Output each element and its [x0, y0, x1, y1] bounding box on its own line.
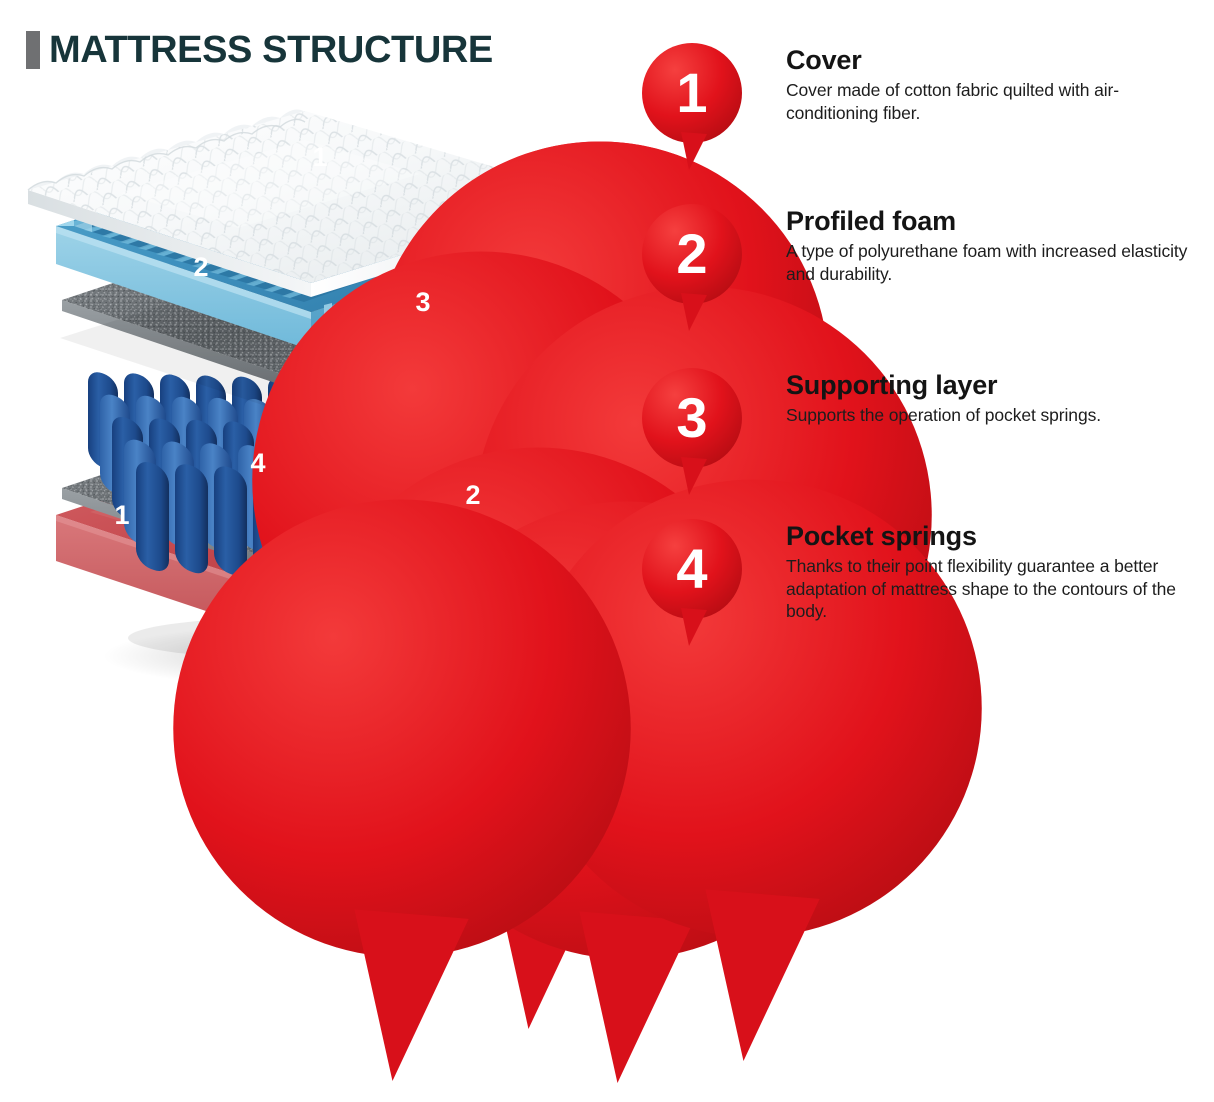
- page-title-text: MATTRESS STRUCTURE: [49, 31, 493, 69]
- legend-list: 1 Cover Cover made of cotton fabric quil…: [636, 42, 1214, 682]
- illustration-marker-2-profiled-foam[interactable]: 2: [176, 242, 226, 306]
- illustration-marker-1-cover[interactable]: 1: [295, 132, 345, 196]
- title-accent-bar: [26, 31, 40, 69]
- legend-pin-4[interactable]: 4: [641, 518, 743, 648]
- legend-text-block: Pocket springs Thanks to their point fle…: [786, 520, 1206, 623]
- legend-description: Thanks to their point flexibility guaran…: [786, 555, 1206, 623]
- legend-text-block: Supporting layer Supports the operation …: [786, 369, 1206, 427]
- legend-title: Cover: [786, 44, 1206, 76]
- legend-text-block: Profiled foam A type of polyurethane foa…: [786, 205, 1206, 285]
- page-title: MATTRESS STRUCTURE: [26, 27, 493, 73]
- legend-description: Supports the operation of pocket springs…: [786, 404, 1206, 427]
- legend-title: Supporting layer: [786, 369, 1206, 401]
- legend-description: A type of polyurethane foam with increas…: [786, 240, 1206, 285]
- legend-title: Pocket springs: [786, 520, 1206, 552]
- legend-pin-3[interactable]: 3: [641, 367, 743, 497]
- illustration-marker-1-base-foam[interactable]: 1: [97, 490, 147, 554]
- legend-title: Profiled foam: [786, 205, 1206, 237]
- legend-text-block: Cover Cover made of cotton fabric quilte…: [786, 44, 1206, 124]
- legend-pin-2[interactable]: 2: [641, 203, 743, 333]
- mattress-illustration: 1 2 3 4: [0, 78, 610, 688]
- infographic-canvas: MATTRESS STRUCTURE: [0, 0, 1214, 705]
- illustration-marker-3-supporting-top[interactable]: 3: [398, 277, 448, 341]
- legend-pin-1[interactable]: 1: [641, 42, 743, 172]
- legend-description: Cover made of cotton fabric quilted with…: [786, 79, 1206, 124]
